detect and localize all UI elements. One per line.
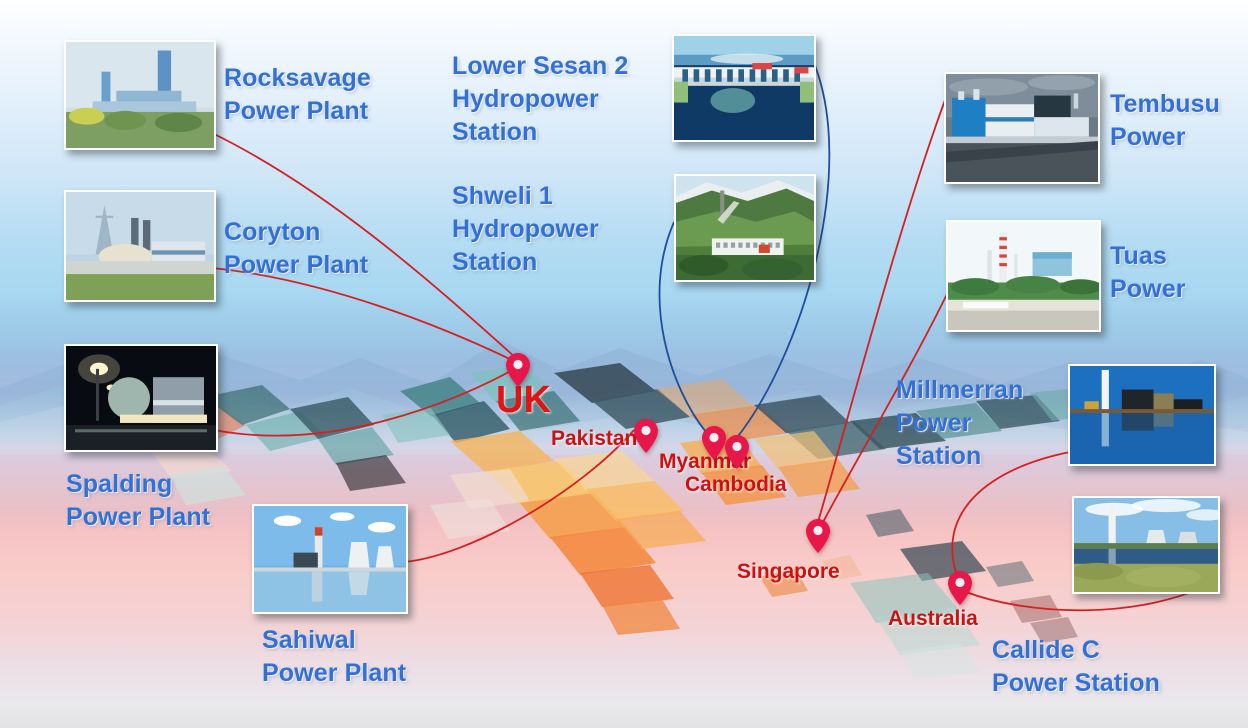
map-pin-australia[interactable] [947, 570, 973, 606]
plant-photo-tembusu[interactable] [944, 72, 1100, 184]
connector-coryton-to-uk [212, 268, 516, 362]
plant-photo-lower-sesan-2[interactable] [672, 34, 816, 142]
plant-label-sahiwal: Sahiwal Power Plant [262, 624, 406, 690]
plant-photo-rocksavage[interactable] [64, 40, 216, 150]
map-pin-cambodia[interactable] [724, 434, 750, 470]
plant-label-callide-c: Callide C Power Station [992, 634, 1160, 700]
plant-label-millmerran: Millmerran Power Station [896, 374, 1023, 473]
country-label-cambodia: Cambodia [685, 473, 787, 496]
connector-spalding-to-uk [214, 368, 516, 436]
plant-photo-callide-c[interactable] [1072, 496, 1220, 594]
map-pin-pakistan[interactable] [633, 418, 659, 454]
plant-label-spalding: Spalding Power Plant [66, 468, 210, 534]
plant-label-rocksavage: Rocksavage Power Plant [224, 62, 371, 128]
plant-photo-millmerran[interactable] [1068, 364, 1216, 466]
infographic-canvas: Rocksavage Power PlantCoryton Power Plan… [0, 0, 1248, 728]
plant-label-coryton: Coryton Power Plant [224, 216, 368, 282]
plant-photo-coryton[interactable] [64, 190, 216, 302]
plant-photo-shweli-1[interactable] [674, 174, 816, 282]
map-pin-uk[interactable] [505, 352, 531, 388]
country-label-pakistan: Pakistan [551, 427, 637, 450]
map-pin-singapore[interactable] [805, 518, 831, 554]
plant-label-tembusu: Tembusu Power [1110, 88, 1220, 154]
plant-label-tuas: Tuas Power [1110, 240, 1186, 306]
country-label-australia: Australia [888, 607, 978, 630]
plant-photo-tuas[interactable] [946, 220, 1101, 332]
plant-photo-spalding[interactable] [64, 344, 218, 452]
plant-label-shweli-1: Shweli 1 Hydropower Station [452, 180, 599, 279]
plant-label-lower-sesan-2: Lower Sesan 2 Hydropower Station [452, 50, 628, 149]
plant-photo-sahiwal[interactable] [252, 504, 408, 614]
country-label-singapore: Singapore [737, 560, 840, 583]
